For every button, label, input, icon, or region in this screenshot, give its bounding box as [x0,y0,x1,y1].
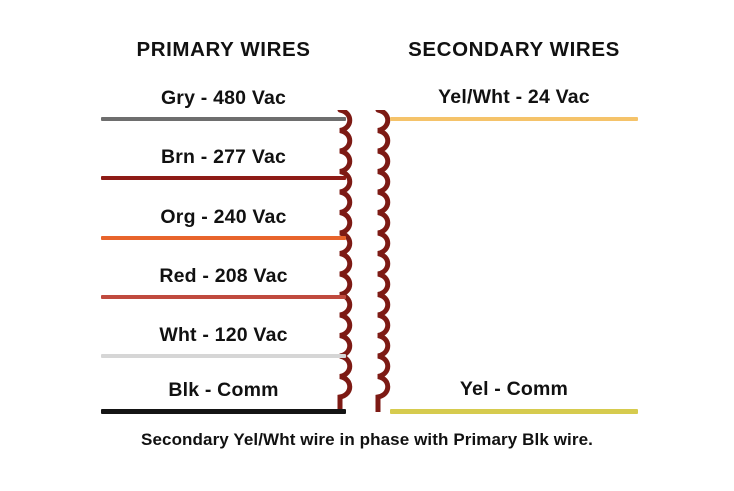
secondary-wire-label: Yel/Wht - 24 Vac [390,86,638,109]
primary-wire-label: Red - 208 Vac [101,265,346,288]
secondary-wires-heading: SECONDARY WIRES [390,38,638,62]
secondary-wire-line [390,117,638,121]
primary-wires-heading: PRIMARY WIRES [101,38,346,62]
primary-wire-label: Org - 240 Vac [101,206,346,229]
secondary-coil-icon [374,110,396,417]
primary-wire-line [101,236,346,240]
primary-wire-label: Gry - 480 Vac [101,87,346,110]
primary-wire-line [101,117,346,121]
diagram-caption: Secondary Yel/Wht wire in phase with Pri… [0,430,734,450]
secondary-wire-label: Yel - Comm [390,378,638,401]
primary-wire-label: Brn - 277 Vac [101,146,346,169]
secondary-wire-line [390,409,638,414]
primary-wire-label: Wht - 120 Vac [101,324,346,347]
primary-wire-label: Blk - Comm [101,379,346,402]
primary-wire-line [101,354,346,358]
primary-wire-line [101,295,346,299]
primary-wire-line [101,176,346,180]
primary-wire-line [101,409,346,414]
transformer-wiring-diagram: PRIMARY WIRES SECONDARY WIRES Gry - 480 … [0,0,734,491]
